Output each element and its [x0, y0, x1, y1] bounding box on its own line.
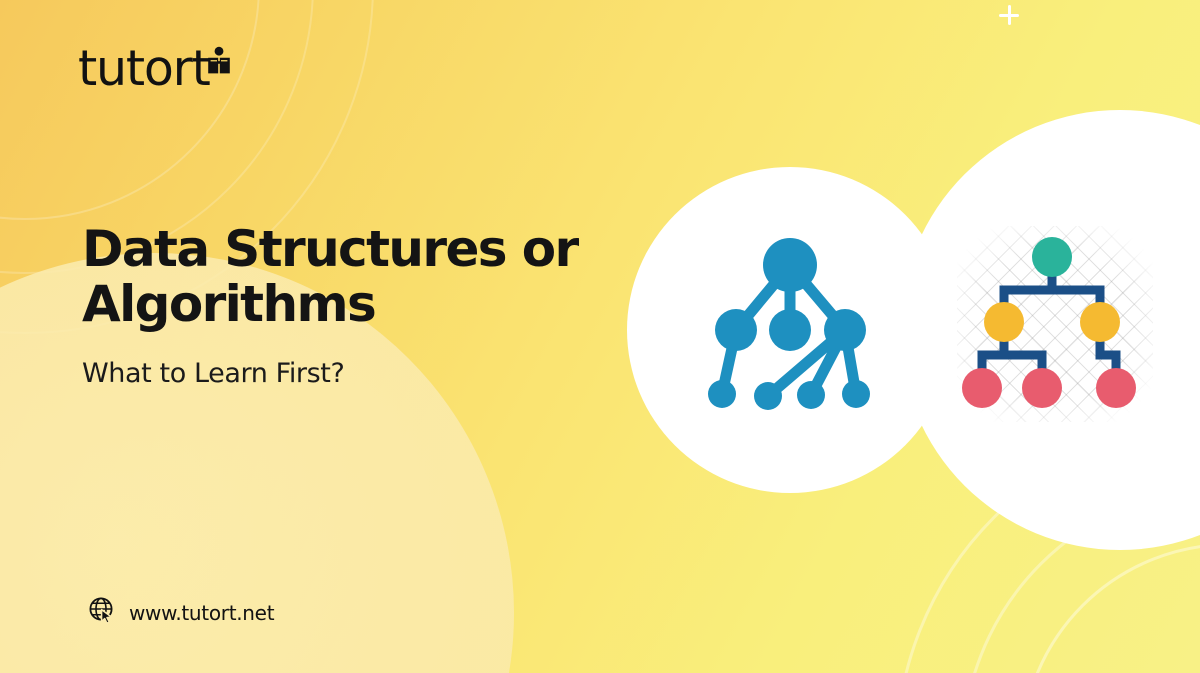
tree-node-root	[1032, 237, 1072, 277]
tree-node-leaf-3	[1096, 368, 1136, 408]
website-url-text: www.tutort.net	[129, 601, 274, 625]
promo-banner: tutort Data Structures or Algorithms Wha…	[0, 0, 1200, 673]
tree-node-leaf-2	[1022, 368, 1062, 408]
concentric-arcs-bottom-right	[1020, 543, 1200, 673]
page-title: Data Structures or Algorithms	[82, 222, 642, 332]
concentric-arcs-top-left	[0, 0, 260, 220]
page-subtitle: What to Learn First?	[82, 358, 642, 389]
reader-book-icon	[206, 46, 232, 81]
tree-node-mid-1	[984, 302, 1024, 342]
sparkle-plus-icon	[999, 5, 1019, 25]
brand-logo[interactable]: tutort	[78, 44, 232, 93]
network-graph-illustration	[690, 232, 890, 422]
website-footer[interactable]: www.tutort.net	[88, 596, 274, 629]
hierarchy-tree-illustration	[952, 222, 1152, 442]
globe-cursor-icon	[88, 596, 116, 629]
tree-node-leaf-1	[962, 368, 1002, 408]
hero-copy: Data Structures or Algorithms What to Le…	[82, 222, 642, 389]
brand-logo-text: tutort	[78, 44, 210, 93]
tree-node-mid-2	[1080, 302, 1120, 342]
